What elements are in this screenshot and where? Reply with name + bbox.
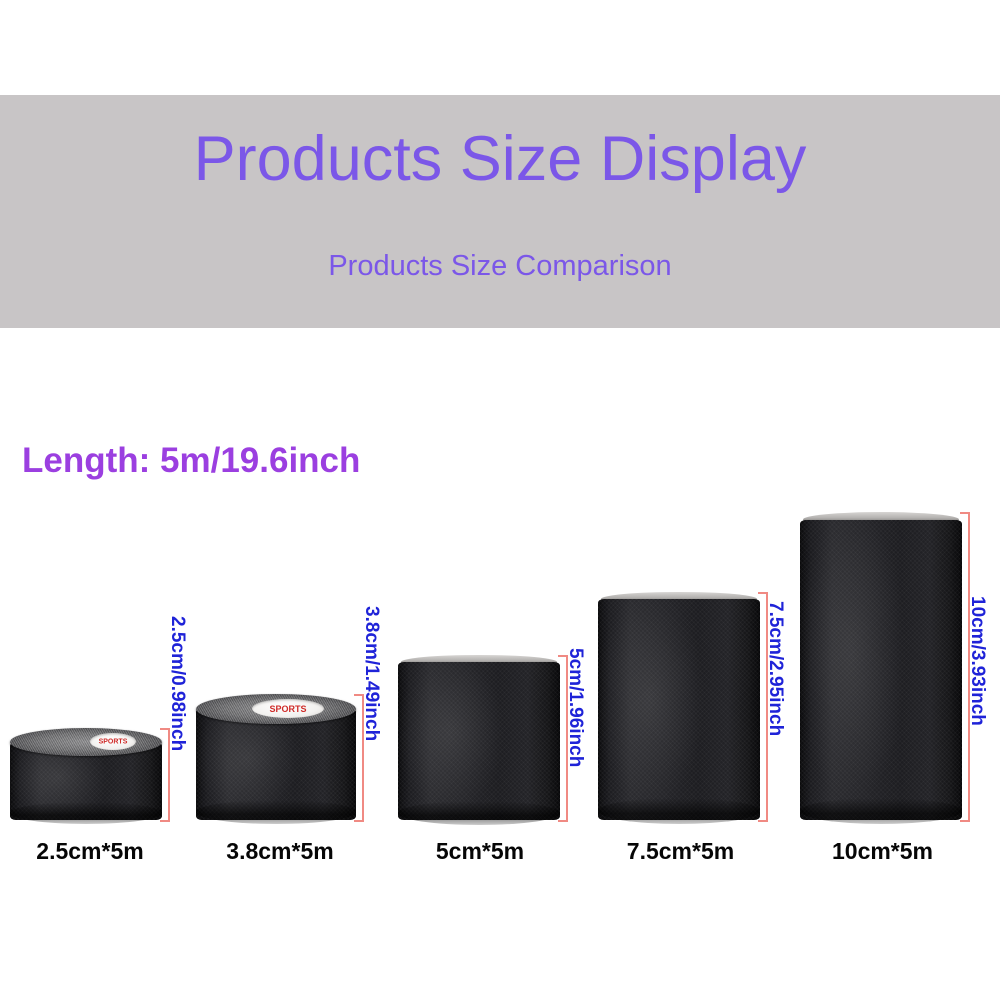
dimension-label-4: 7.5cm/2.95inch [764,601,786,736]
product-roll-1: SPORTS [10,728,162,820]
product-size-display-page: Products Size Display Products Size Comp… [0,0,1000,1000]
dimension-label-1: 2.5cm/0.98inch [166,616,188,751]
roll-body-2 [196,708,356,820]
size-label-2: 3.8cm*5m [200,838,360,865]
roll-core-2: SPORTS [252,699,324,718]
roll-body-5 [800,520,962,820]
roll-body-4 [598,599,760,820]
size-label-5: 10cm*5m [800,838,965,865]
roll-core-text-2: SPORTS [252,704,324,714]
dimension-label-2: 3.8cm/1.49inch [360,606,382,741]
size-label-1: 2.5cm*5m [10,838,170,865]
product-roll-5 [800,512,962,820]
roll-core-1: SPORTS [90,733,136,750]
size-label-3: 5cm*5m [400,838,560,865]
product-roll-3 [398,655,560,820]
roll-top-face-1 [10,728,162,756]
product-roll-4 [598,592,760,820]
dimension-label-5: 10cm/3.93inch [966,596,988,726]
roll-body-3 [398,662,560,820]
product-roll-2: SPORTS [196,694,356,820]
size-label-4: 7.5cm*5m [598,838,763,865]
roll-core-text-1: SPORTS [90,738,136,745]
dimension-label-3: 5cm/1.96inch [564,648,586,767]
